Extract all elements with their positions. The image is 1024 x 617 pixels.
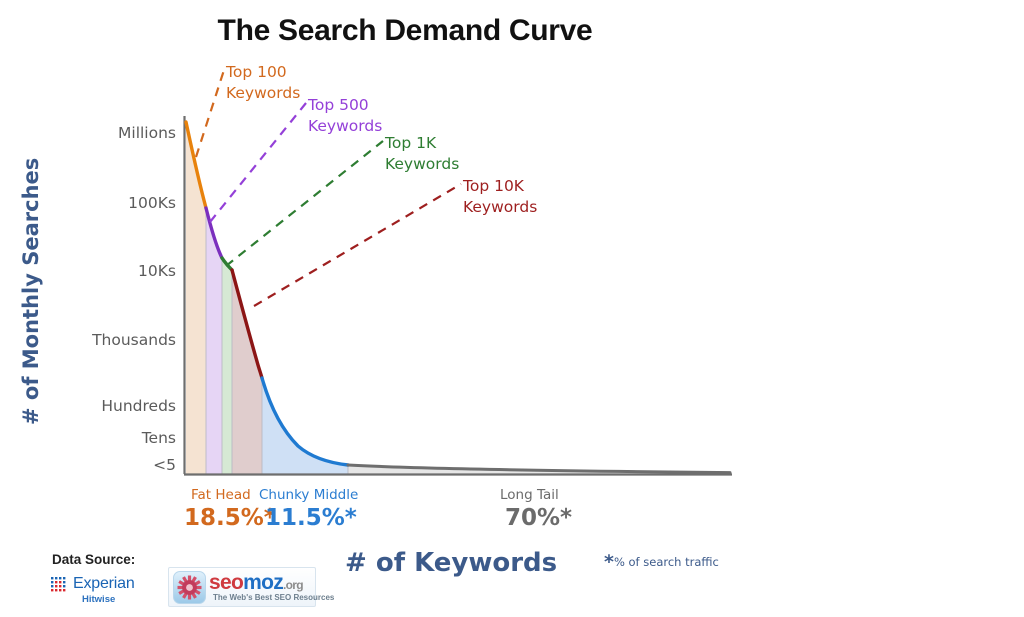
callout-top-100-line2: Keywords <box>226 83 300 104</box>
experian-hitwise-label: Hitwise <box>82 594 115 605</box>
experian-mark-icon <box>50 576 70 595</box>
segment-pct-fat-head: 18.5%* <box>184 505 276 531</box>
seomoz-word-org: .org <box>283 578 303 592</box>
y-tick-tens: Tens <box>142 429 176 447</box>
band-top-1k <box>222 110 232 476</box>
segment-pct-chunky-middle: 11.5%* <box>265 505 357 531</box>
footnote-asterisk: * <box>604 551 614 573</box>
segment-label-chunky-middle: Chunky Middle <box>259 487 358 503</box>
seomoz-word-seo: seo <box>209 571 243 594</box>
seomoz-wordmark: seomoz.org <box>209 571 303 595</box>
segment-label-long-tail: Long Tail <box>500 487 559 503</box>
experian-wordmark: Experian <box>73 575 135 593</box>
callout-top-500-line1: Top 500 <box>308 96 369 114</box>
callout-top-1k-line2: Keywords <box>385 154 459 175</box>
callout-top-500-line2: Keywords <box>308 116 382 137</box>
leader-top-10k <box>254 184 461 306</box>
y-tick-lt5: <5 <box>153 456 176 474</box>
y-axis-title: # of Monthly Searches <box>19 195 43 425</box>
leader-top-500 <box>210 103 306 222</box>
segment-label-fat-head: Fat Head <box>191 487 251 503</box>
callout-top-1k-keywords: Top 1K Keywords <box>385 133 459 175</box>
experian-logo: Experian Hitwise <box>50 574 160 608</box>
callout-top-1k-line1: Top 1K <box>385 134 436 152</box>
leader-top-100 <box>196 70 224 157</box>
y-tick-100ks: 100Ks <box>128 194 176 212</box>
segment-pct-long-tail: 70%* <box>505 505 572 531</box>
callout-top-500-keywords: Top 500 Keywords <box>308 95 382 137</box>
callout-top-10k-line2: Keywords <box>463 197 537 218</box>
y-tick-thousands: Thousands <box>92 331 176 349</box>
data-source-label: Data Source: <box>52 552 135 567</box>
y-tick-millions: Millions <box>118 124 176 142</box>
callout-top-10k-line1: Top 10K <box>463 177 524 195</box>
seomoz-logo: seomoz.org The Web's Best SEO Resources <box>168 567 316 607</box>
footnote: *% of search traffic <box>604 551 719 573</box>
seomoz-tagline: The Web's Best SEO Resources <box>213 593 334 602</box>
y-tick-hundreds: Hundreds <box>101 397 176 415</box>
footnote-text: % of search traffic <box>614 555 719 569</box>
band-top-500 <box>206 110 222 476</box>
seomoz-gear-icon <box>173 571 206 604</box>
callout-top-100-line1: Top 100 <box>226 63 287 81</box>
callout-top-100-keywords: Top 100 Keywords <box>226 62 300 104</box>
y-tick-10ks: 10Ks <box>138 262 176 280</box>
seomoz-word-moz: moz <box>243 571 283 594</box>
leader-top-1k <box>226 141 383 266</box>
callout-top-10k-keywords: Top 10K Keywords <box>463 176 537 218</box>
x-axis-title: # of Keywords <box>345 548 557 578</box>
